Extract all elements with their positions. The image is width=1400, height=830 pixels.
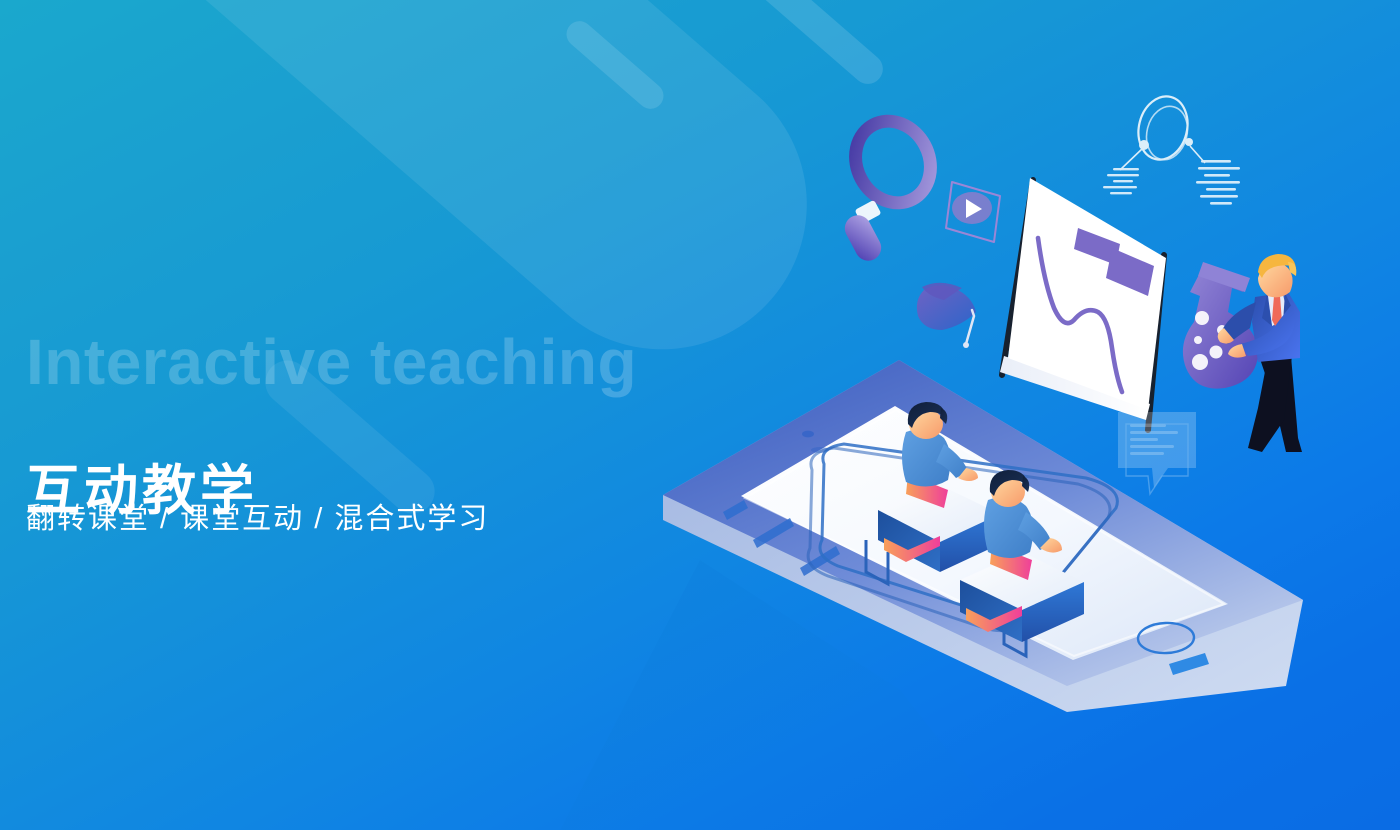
flask-bubbles	[1192, 311, 1227, 370]
student-figure-1	[878, 402, 1000, 572]
banner-root: Interactive teaching 互动教学 翻转课堂 / 课堂互动 / …	[0, 0, 1400, 830]
idea-text-lines-right	[1196, 160, 1240, 205]
teacher-figure	[1218, 254, 1302, 452]
chat-bubble-icon	[1118, 412, 1196, 494]
ghost-title: Interactive teaching	[26, 325, 637, 399]
idea-loop-icon	[1103, 91, 1240, 204]
page-subtitle: 翻转课堂 / 课堂互动 / 混合式学习	[26, 495, 489, 537]
tablet-device	[663, 360, 1303, 712]
tablet-shadow	[560, 560, 1010, 830]
decorative-stripe-small-2	[741, 0, 889, 90]
flask-icon	[1183, 262, 1258, 389]
video-play-icon	[946, 182, 1000, 242]
student-figure-2	[960, 470, 1084, 642]
idea-text-lines-left	[1103, 168, 1139, 194]
graduation-cap-icon	[917, 283, 976, 348]
classroom-scene	[808, 402, 1117, 656]
easel-whiteboard	[1000, 178, 1166, 430]
magnifier-icon	[840, 108, 944, 265]
